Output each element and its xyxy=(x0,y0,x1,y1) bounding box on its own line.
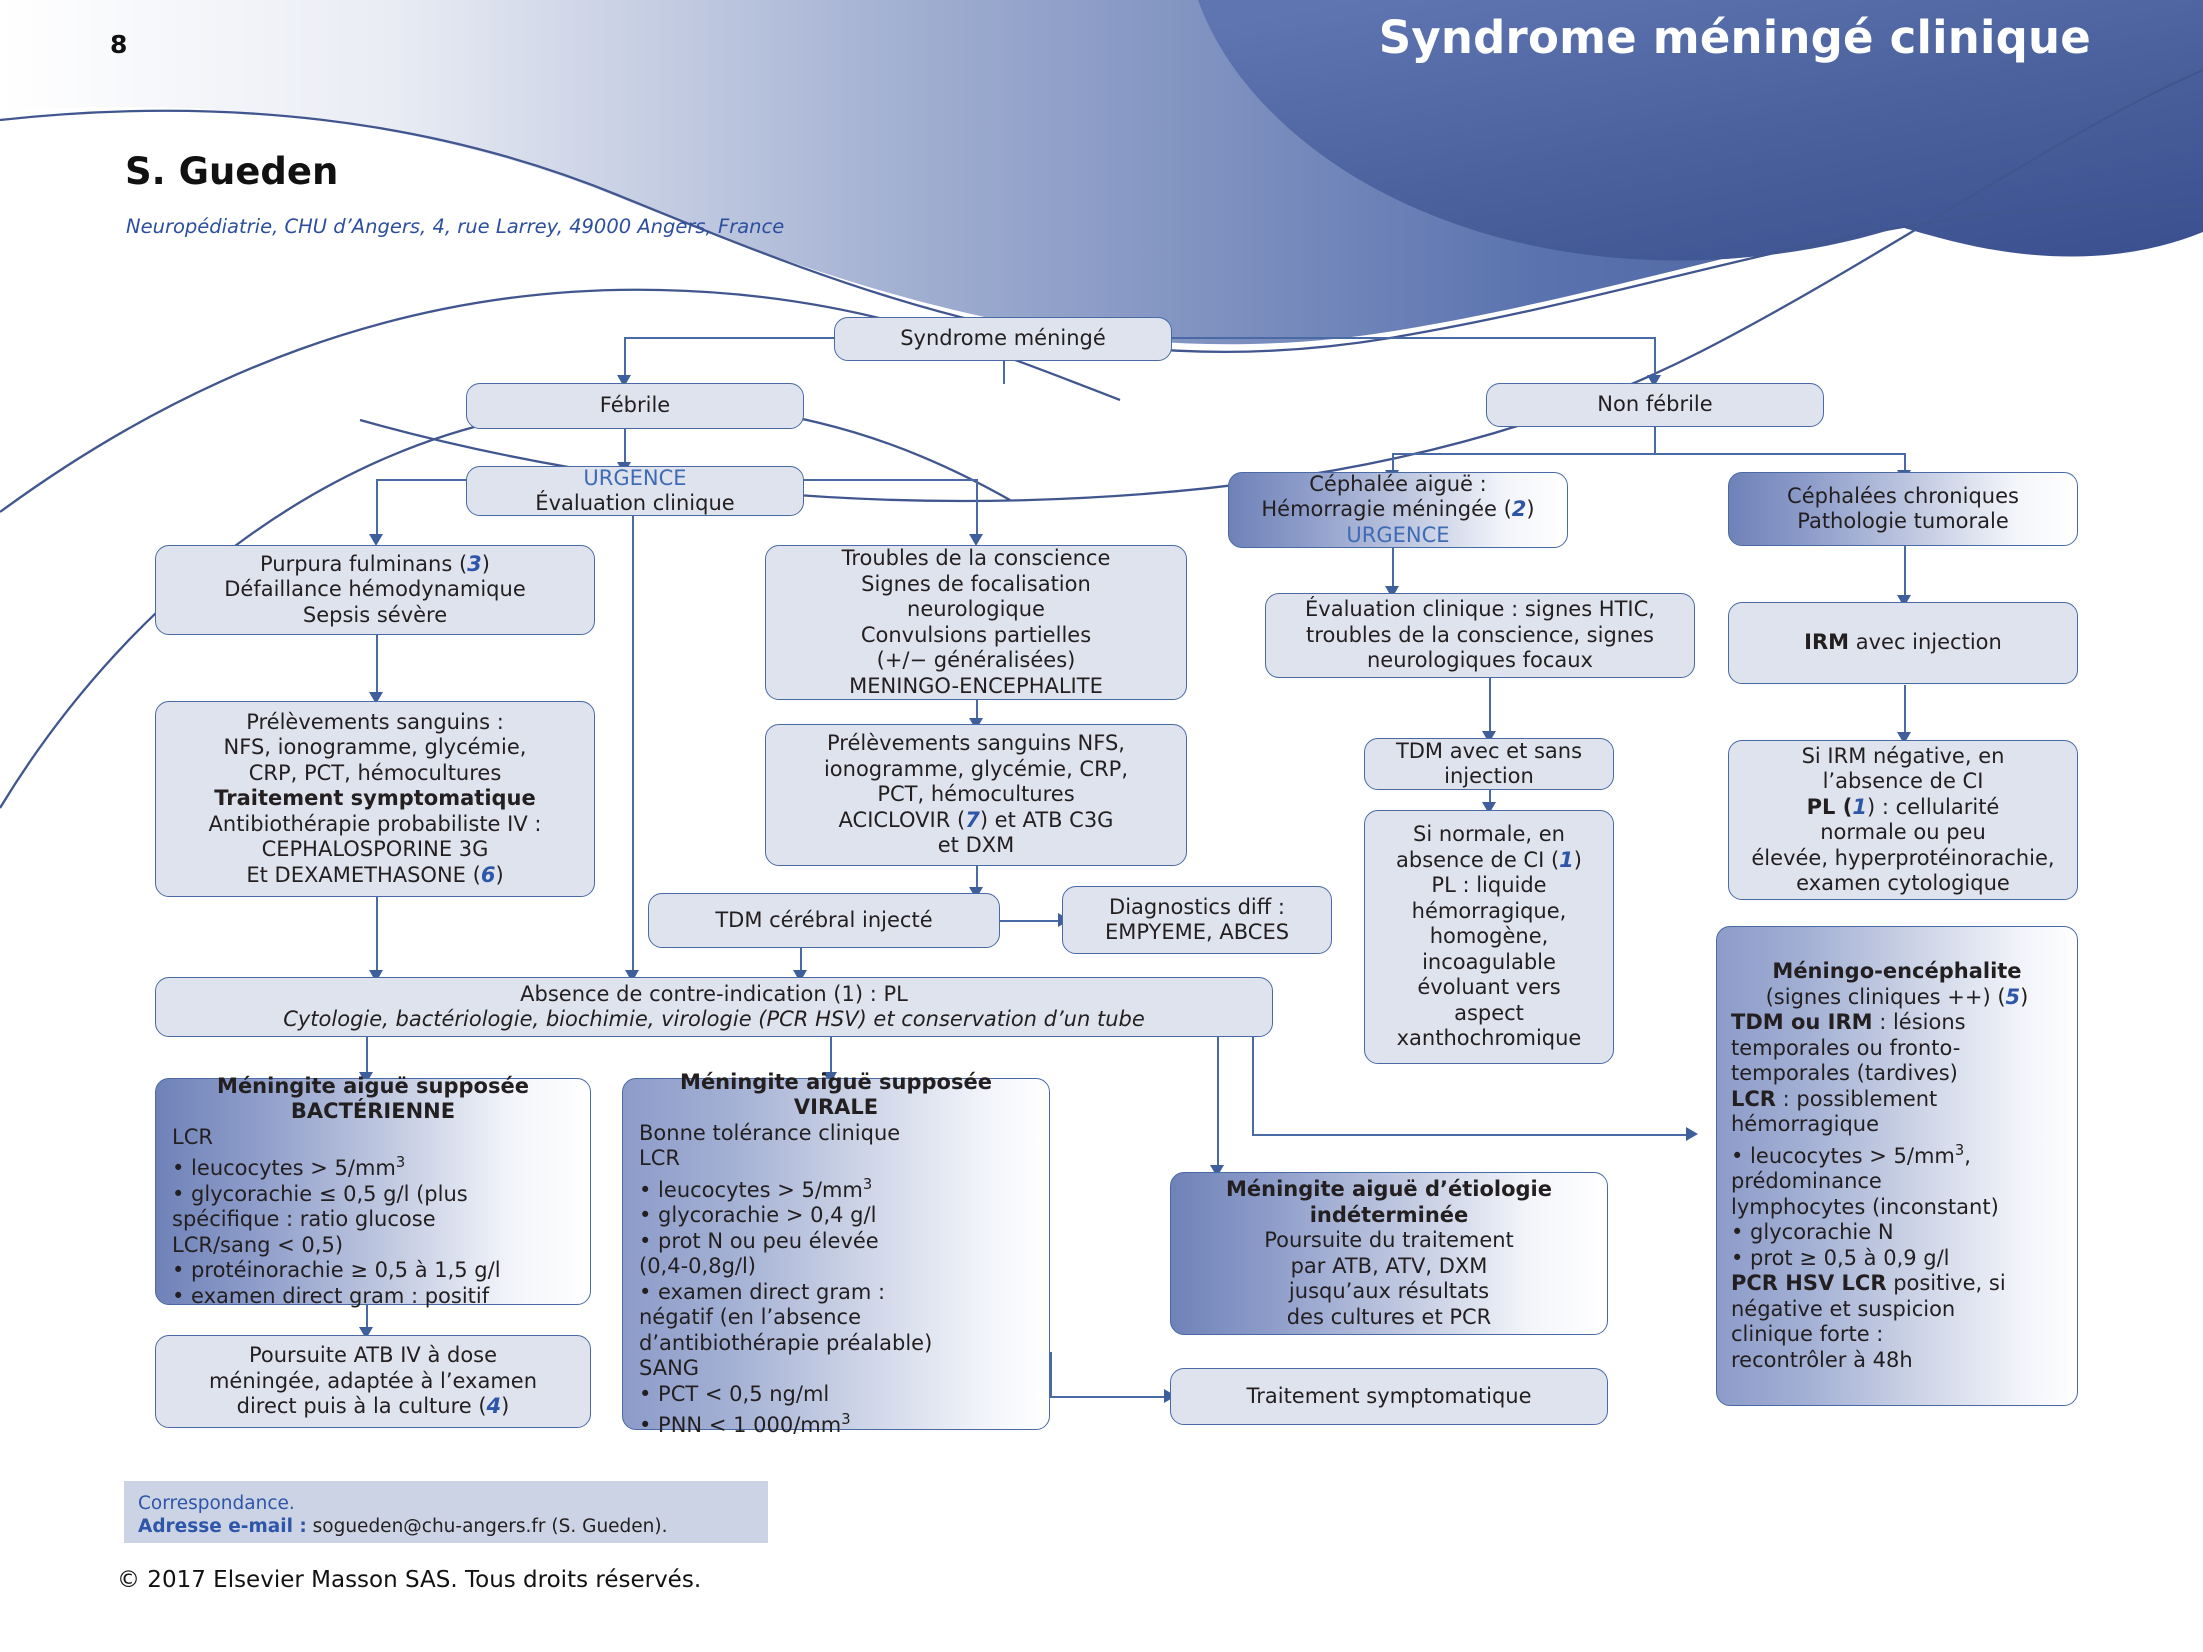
node-febrile[interactable]: Fébrile xyxy=(466,383,804,429)
connector-nonfebrile-down xyxy=(1654,337,1656,379)
connector-root-down xyxy=(1003,360,1005,384)
node-meningite-indeterminee[interactable]: Méningite aiguë d’étiologie indéterminée… xyxy=(1170,1172,1608,1335)
node-poursuite-atb[interactable]: Poursuite ATB IV à dose méningée, adapté… xyxy=(155,1335,591,1428)
page-root: 8 Syndrome méningé clinique S. Gueden Ne… xyxy=(0,0,2203,1652)
node-diagnostics-differentiels[interactable]: Diagnostics diff : EMPYEME, ABCES xyxy=(1062,886,1332,954)
node-evaluation-htic[interactable]: Évaluation clinique : signes HTIC, troub… xyxy=(1265,593,1695,678)
flowchart: Syndrome méningé Fébrile Non fébrile URG… xyxy=(0,0,2203,1652)
node-si-irm-negative[interactable]: Si IRM négative, en l’absence de CI PL (… xyxy=(1728,740,2078,900)
connector-eval-tdm xyxy=(1489,678,1491,736)
page-number: 8 xyxy=(110,30,127,59)
node-meningite-bacterienne[interactable]: Méningite aiguë supposée BACTÉRIENNE LCR… xyxy=(155,1078,591,1305)
page-title: Syndrome méningé clinique xyxy=(1379,11,2091,64)
connector-nonfebrile-bar xyxy=(1392,453,1905,455)
connector-virale-traitement-h xyxy=(1050,1396,1170,1398)
node-urgence-evaluation[interactable]: URGENCE Évaluation clinique xyxy=(466,466,804,516)
connector-cephalee-eval xyxy=(1392,546,1394,591)
connector-pl-bacterienne xyxy=(366,1035,368,1077)
node-meningo-encephalite[interactable]: Méningo-encéphalite (signes cliniques ++… xyxy=(1716,926,2078,1406)
connector-root-right xyxy=(1172,337,1654,339)
connector-pl-meningo-h xyxy=(1252,1134,1690,1136)
connector-chroniques-irm xyxy=(1904,546,1906,600)
node-si-normale-pl[interactable]: Si normale, en absence de CI (1) PL : li… xyxy=(1364,810,1614,1064)
connector-irm-negative xyxy=(1904,685,1906,737)
author-name: S. Gueden xyxy=(125,150,338,193)
connector-tdm-diag xyxy=(1000,920,1062,922)
connector-pl-meningo-v xyxy=(1252,1035,1254,1135)
node-syndrome-meninge[interactable]: Syndrome méningé xyxy=(834,317,1172,361)
connector-troubles-down xyxy=(976,479,978,539)
node-traitement-symptomatique[interactable]: Traitement symptomatique xyxy=(1170,1368,1608,1425)
node-irm-avec-injection[interactable]: IRM avec injection xyxy=(1728,602,2078,684)
node-tdm-avec-sans-injection[interactable]: TDM avec et sans injection xyxy=(1364,738,1614,790)
node-meningite-virale[interactable]: Méningite aiguë supposée VIRALE Bonne to… xyxy=(622,1078,1050,1430)
connector-purpura-prelev xyxy=(376,634,378,697)
urgence-label: URGENCE xyxy=(583,466,686,492)
arrow-meningo-encephalite xyxy=(1686,1127,1698,1141)
correspondence-label: Correspondance. xyxy=(138,1492,754,1515)
node-prelevements-sanguins-left[interactable]: Prélèvements sanguins : NFS, ionogramme,… xyxy=(155,701,595,897)
node-prelevements-sanguins-mid[interactable]: Prélèvements sanguins NFS, ionogramme, g… xyxy=(765,724,1187,866)
node-cephalee-aigue[interactable]: Céphalée aiguë : Hémorragie méningée (2)… xyxy=(1228,472,1568,548)
connector-prelev-pl xyxy=(376,896,378,974)
connector-urgence-pl xyxy=(632,514,634,974)
connector-virale-traitement-v xyxy=(1050,1352,1052,1398)
connector-febrile-down xyxy=(624,337,626,379)
email-line: Adresse e-mail : sogueden@chu-angers.fr … xyxy=(138,1515,754,1538)
copyright-notice: © 2017 Elsevier Masson SAS. Tous droits … xyxy=(117,1567,701,1593)
node-purpura-fulminans[interactable]: Purpura fulminans (3) Défaillance hémody… xyxy=(155,545,595,635)
node-troubles-conscience[interactable]: Troubles de la conscience Signes de foca… xyxy=(765,545,1187,700)
connector-nonfebrile-split xyxy=(1654,426,1656,454)
connector-pl-indeterminee xyxy=(1217,1035,1219,1170)
correspondence-block: Correspondance. Adresse e-mail : soguede… xyxy=(124,1481,768,1543)
node-cephalees-chroniques[interactable]: Céphalées chroniques Pathologie tumorale xyxy=(1728,472,2078,546)
node-tdm-cerebral-injecte[interactable]: TDM cérébral injecté xyxy=(648,893,1000,948)
connector-purpura-down xyxy=(376,479,378,539)
affiliation: Neuropédiatrie, CHU d’Angers, 4, rue Lar… xyxy=(126,215,784,238)
node-absence-contre-indication[interactable]: Absence de contre-indication (1) : PL Cy… xyxy=(155,977,1273,1037)
node-non-febrile[interactable]: Non fébrile xyxy=(1486,383,1824,427)
connector-urgence-right xyxy=(803,479,978,481)
